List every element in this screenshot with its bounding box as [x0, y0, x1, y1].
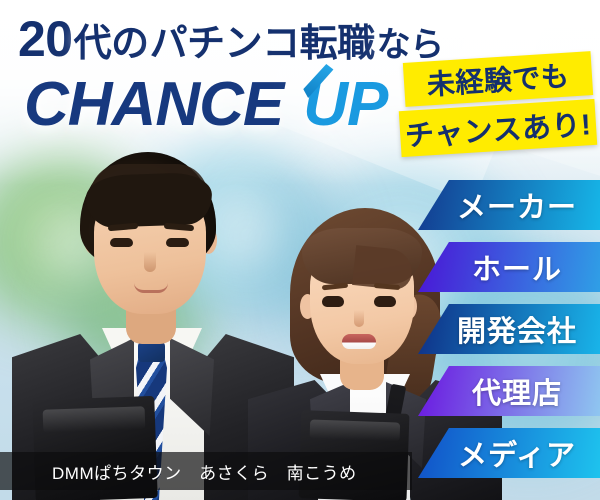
headline-tail: なら: [377, 28, 444, 62]
nose: [354, 310, 364, 327]
eye-left: [322, 296, 344, 307]
tag-maker[interactable]: メーカー: [418, 180, 600, 230]
mouth: [134, 283, 168, 293]
chance-up-logo: CHANCE UP: [24, 74, 387, 136]
eye-left: [110, 238, 133, 247]
headline-number: 20: [18, 14, 73, 64]
hair-fringe: [85, 172, 213, 228]
necktie-knot: [138, 342, 165, 362]
tag-label: 代理店: [456, 370, 562, 412]
credit-text: DMMぱちタウン あさくら 南こうめ: [0, 459, 357, 484]
eye-right: [374, 296, 396, 307]
mouth: [342, 334, 376, 349]
tag-label: メーカー: [441, 184, 577, 226]
eye-right: [166, 238, 189, 247]
logo-primary-text: CHANCE: [24, 74, 283, 136]
tag-media[interactable]: メディア: [418, 428, 600, 478]
tag-label: メディア: [442, 432, 576, 474]
tag-agency[interactable]: 代理店: [418, 366, 600, 416]
job-category-tag-list: メーカー ホール 開発会社 代理店 メディア: [418, 180, 600, 478]
briefcase-highlight: [42, 406, 145, 432]
tag-hall[interactable]: ホール: [418, 242, 600, 292]
briefcase-highlight: [309, 419, 400, 442]
hair-bangs: [302, 228, 422, 284]
tag-label: 開発会社: [441, 308, 577, 350]
logo-accent-text: UP: [303, 74, 387, 136]
headline: 20 代の パチンコ転職 なら: [18, 14, 444, 64]
tag-development-company[interactable]: 開発会社: [418, 304, 600, 354]
headline-middle: 代の: [74, 25, 149, 63]
headline-body: パチンコ転職: [150, 25, 375, 63]
pachinko-career-banner: 20 代の パチンコ転職 なら CHANCE UP 未経験でも チャンスあり! …: [0, 0, 600, 500]
nose: [144, 252, 156, 272]
tag-label: ホール: [456, 246, 562, 288]
credit-bar: DMMぱちタウン あさくら 南こうめ: [0, 452, 412, 490]
